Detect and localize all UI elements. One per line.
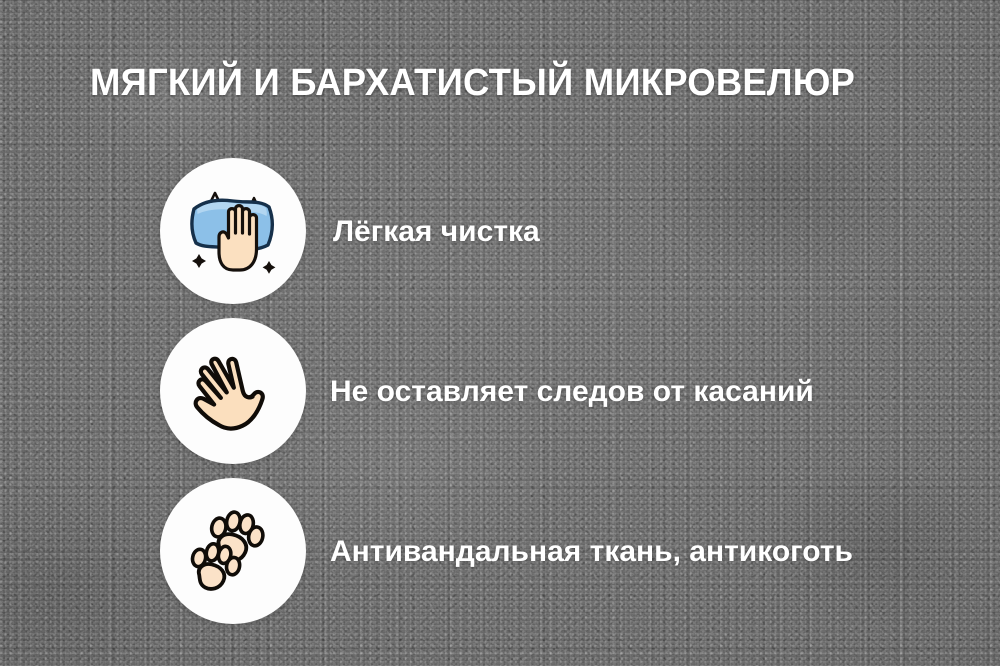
hand-wiping-cloth-icon <box>178 176 288 286</box>
feature-list: Лёгкая чистка Не оставляет следов от кас… <box>0 152 1000 632</box>
feature-label: Лёгкая чистка <box>333 215 540 249</box>
paw-prints-icon <box>179 497 287 605</box>
feature-row: Антивандальная ткань, антикоготь <box>0 472 1000 632</box>
poster-canvas: МЯГКИЙ И БАРХАТИСТЫЙ МИКРОВЕЛЮР <box>0 0 1000 666</box>
feature-row: Лёгкая чистка <box>0 152 1000 312</box>
feature-label: Антивандальная ткань, антикоготь <box>330 535 853 569</box>
feature-icon-badge <box>160 158 306 304</box>
feature-row: Не оставляет следов от касаний <box>0 312 1000 472</box>
feature-icon-badge <box>160 478 306 624</box>
open-hand-icon <box>179 337 287 445</box>
feature-icon-badge <box>160 318 306 464</box>
page-title: МЯГКИЙ И БАРХАТИСТЫЙ МИКРОВЕЛЮР <box>90 62 855 105</box>
feature-label: Не оставляет следов от касаний <box>330 375 814 409</box>
